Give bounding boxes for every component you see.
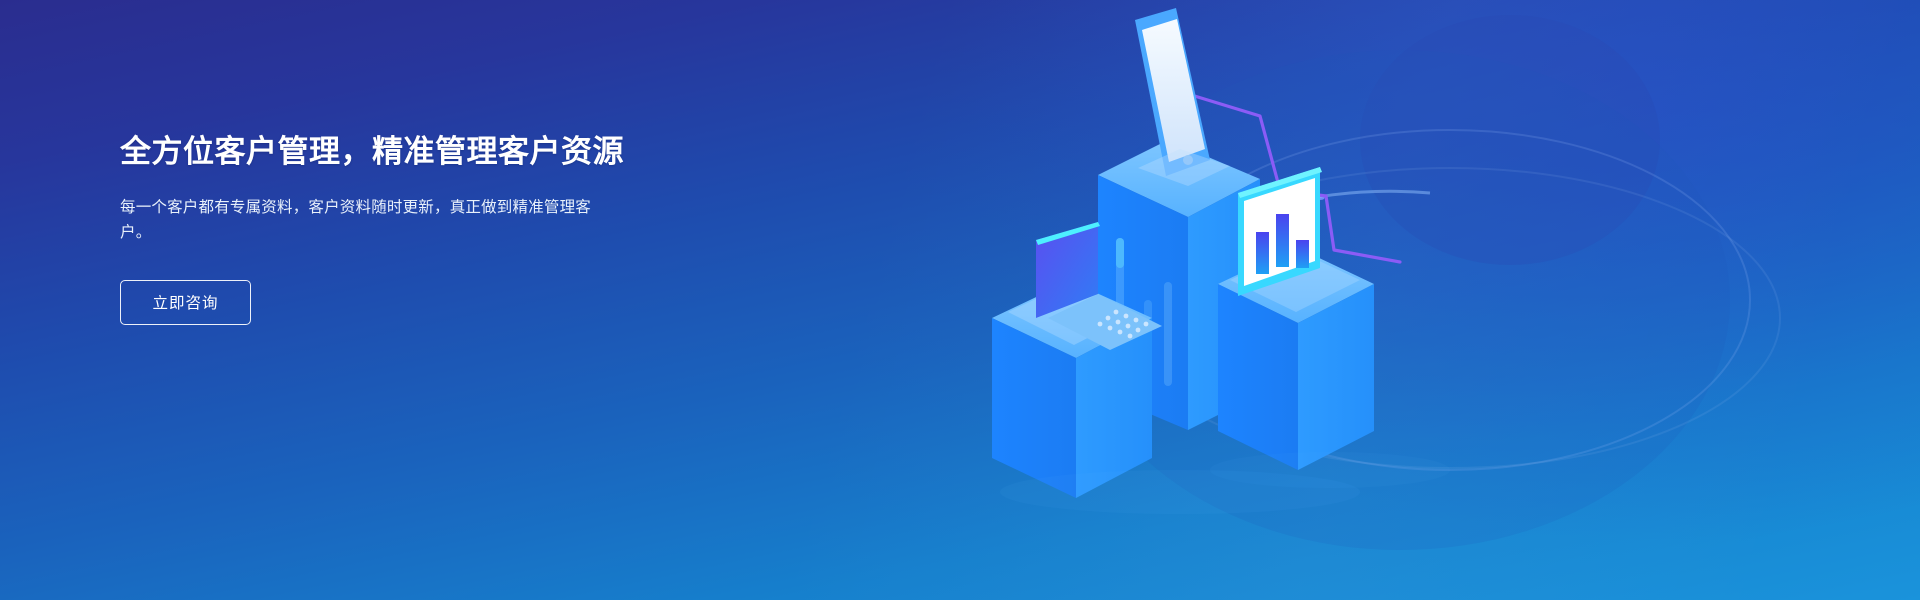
hero-copy-block: 全方位客户管理，精准管理客户资源 每一个客户都有专属资料，客户资料随时更新，真正… [120,133,760,325]
hero-banner: 全方位客户管理，精准管理客户资源 每一个客户都有专属资料，客户资料随时更新，真正… [0,0,1920,600]
hero-subtitle: 每一个客户都有专属资料，客户资料随时更新，真正做到精准管理客户。 [120,195,605,245]
hero-illustration [930,0,1920,600]
consult-now-button[interactable]: 立即咨询 [120,280,251,325]
page-title: 全方位客户管理，精准管理客户资源 [120,133,760,172]
